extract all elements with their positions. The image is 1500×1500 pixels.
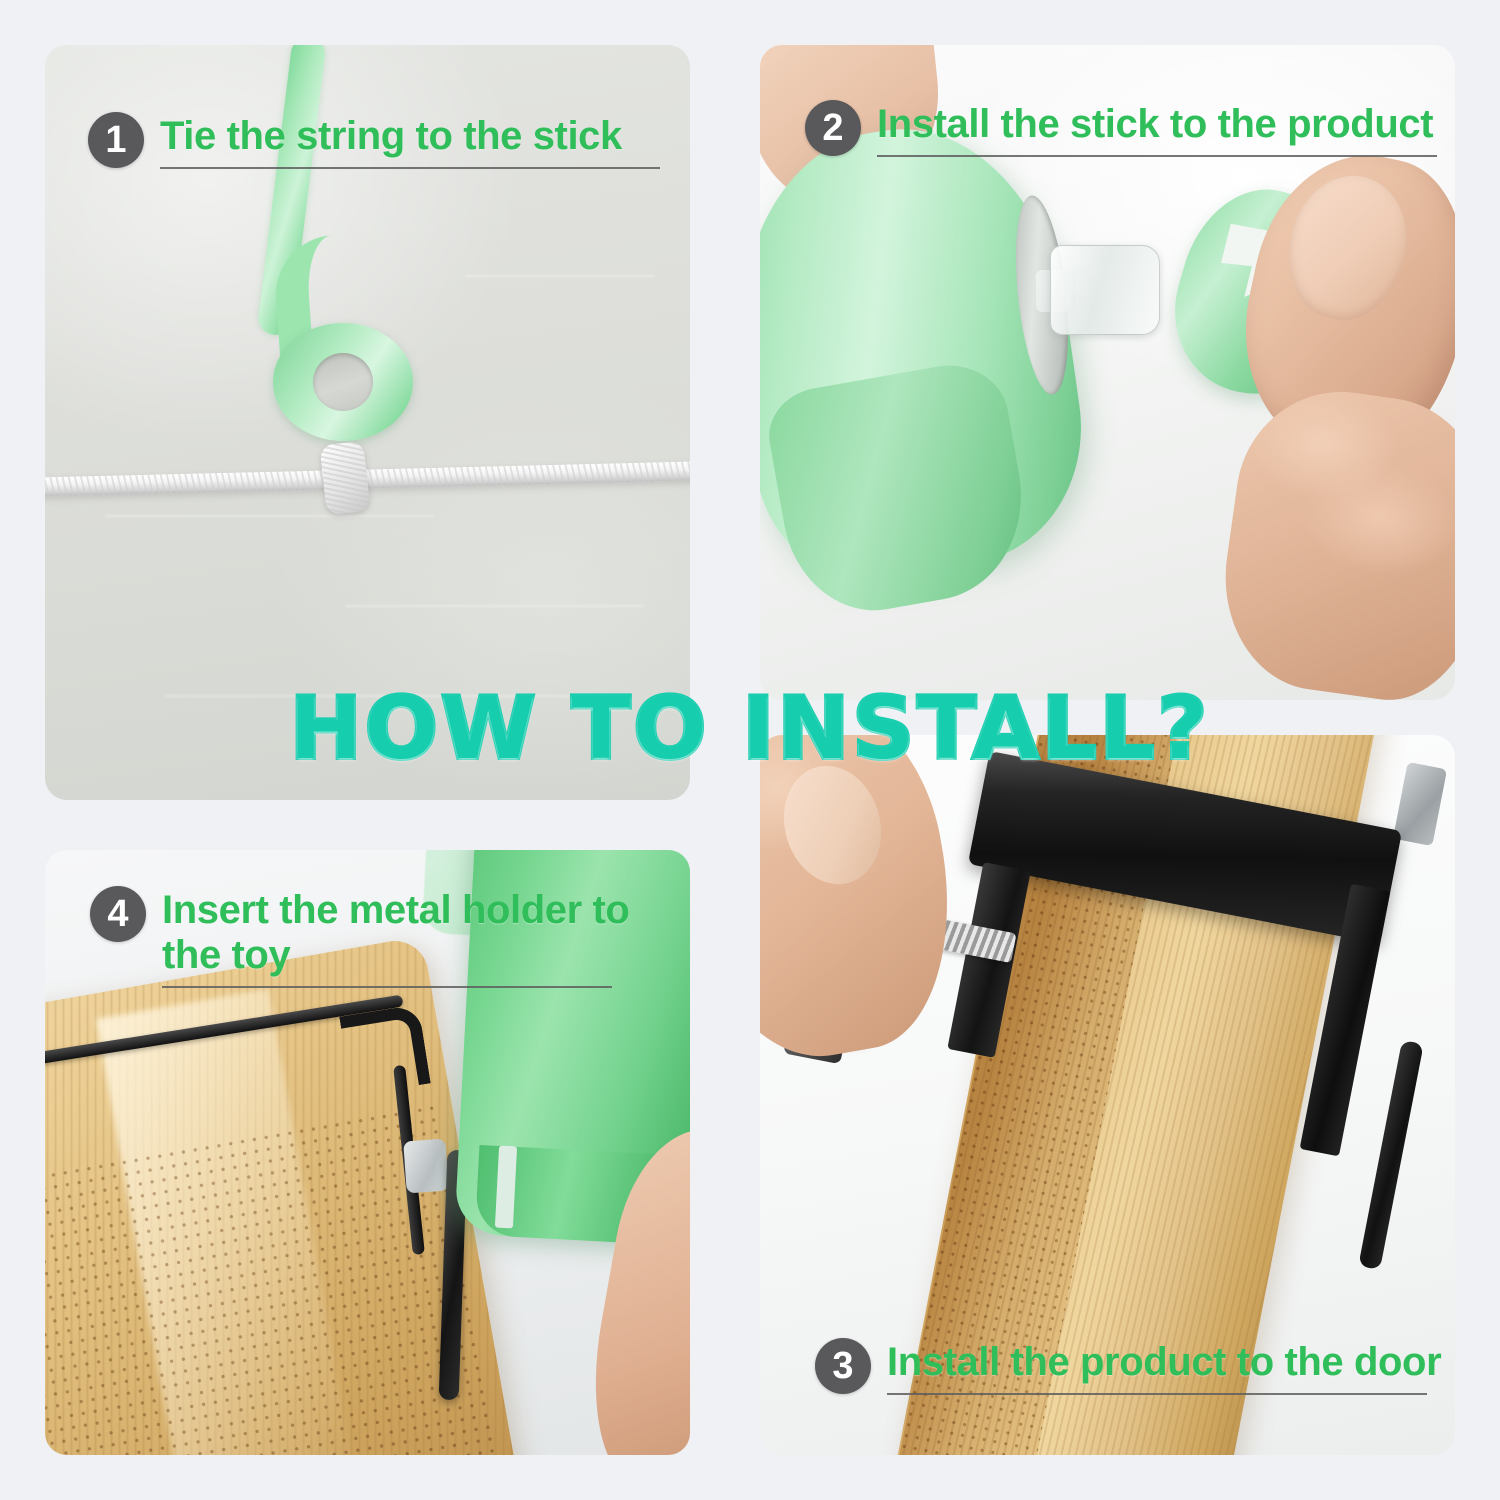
step-2-underline xyxy=(877,155,1437,157)
step-4-caption: 4 Insert the metal holder to the toy xyxy=(90,886,629,988)
step-2-caption: 2 Install the stick to the product xyxy=(805,100,1437,157)
clear-plastic-stick xyxy=(1050,245,1160,335)
step-4-badge: 4 xyxy=(90,886,146,942)
metal-ferrule xyxy=(403,1139,449,1194)
how-to-install-infographic: 1 Tie the string to the stick 2 Install … xyxy=(0,0,1500,1500)
step-3-badge: 3 xyxy=(815,1338,871,1394)
main-title: HOW TO INSTALL? xyxy=(0,686,1500,772)
step-1-label: Tie the string to the stick xyxy=(160,114,660,159)
cord-knot xyxy=(319,441,370,515)
metal-holder-corner xyxy=(339,1004,431,1096)
wall-scratch xyxy=(465,275,655,277)
step-3-label: Install the product to the door xyxy=(887,1340,1441,1385)
wall-scratch xyxy=(105,515,435,517)
wall-scratch xyxy=(345,605,645,607)
step-1-badge: 1 xyxy=(88,112,144,168)
eyelet-hole xyxy=(313,353,373,411)
step-4-label: Insert the metal holder to the toy xyxy=(162,888,629,978)
step-1-underline xyxy=(160,167,660,169)
step-3-caption: 3 Install the product to the door xyxy=(815,1338,1441,1395)
step-2-label: Install the stick to the product xyxy=(877,102,1437,147)
step-1-caption: 1 Tie the string to the stick xyxy=(88,112,660,169)
step-3-underline xyxy=(887,1393,1427,1395)
step-2-badge: 2 xyxy=(805,100,861,156)
step-4-underline xyxy=(162,986,612,988)
